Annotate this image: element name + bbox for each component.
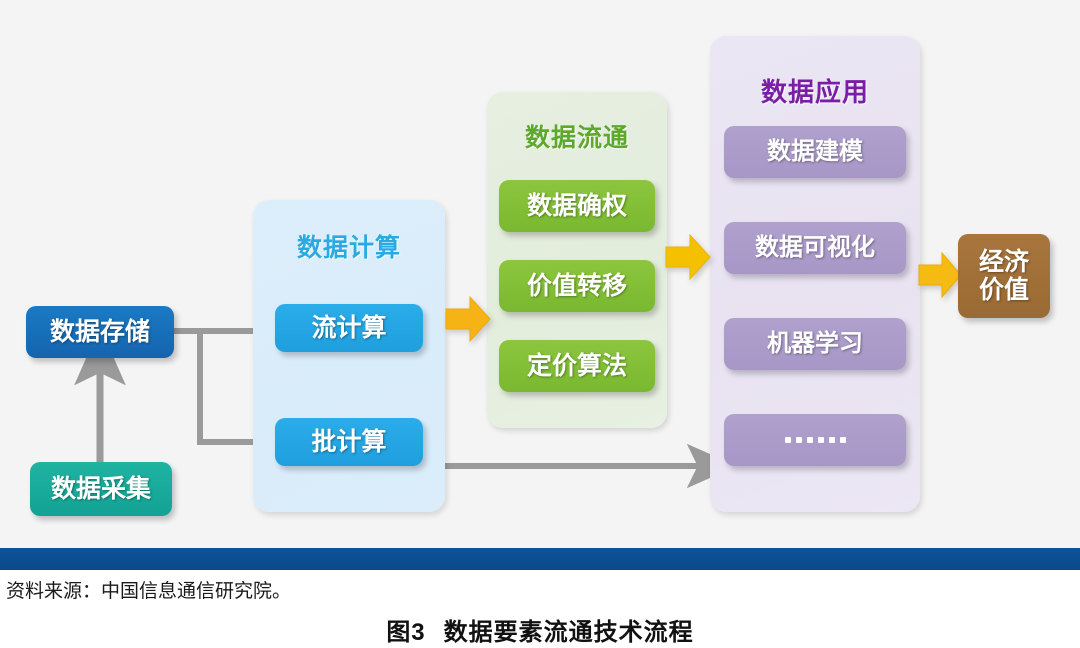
node-data-storage-label: 数据存储	[50, 318, 150, 346]
arrow-circulation-to-application-icon	[665, 232, 711, 282]
node-batch-computing-label: 批计算	[311, 428, 386, 456]
node-batch-computing[interactable]: 批计算	[275, 418, 423, 466]
node-pricing-algorithm-label: 定价算法	[527, 352, 627, 380]
figure-caption-title: 数据要素流通技术流程	[444, 619, 694, 646]
figure-root: 数据存储 数据采集 数据计算 流计算 批计算 数据流通 数据确权 价值转移 定价…	[0, 0, 1080, 648]
node-stream-computing[interactable]: 流计算	[275, 304, 423, 352]
node-economic-value-line1: 经济	[979, 248, 1029, 276]
node-data-rights-confirmation-label: 数据确权	[527, 192, 627, 220]
panel-data-circulation: 数据流通 数据确权 价值转移 定价算法	[487, 92, 667, 428]
node-data-collection-label: 数据采集	[51, 475, 151, 503]
node-more-applications[interactable]	[724, 414, 906, 466]
ellipsis-icon	[785, 437, 846, 443]
node-pricing-algorithm[interactable]: 定价算法	[499, 340, 655, 392]
node-value-transfer-label: 价值转移	[527, 272, 627, 300]
node-stream-computing-label: 流计算	[311, 314, 386, 342]
node-machine-learning[interactable]: 机器学习	[724, 318, 906, 370]
divider-bar	[0, 548, 1080, 570]
node-data-rights-confirmation[interactable]: 数据确权	[499, 180, 655, 232]
panel-data-computing: 数据计算 流计算 批计算	[253, 200, 445, 512]
node-economic-value-line2: 价值	[979, 276, 1029, 304]
node-value-transfer[interactable]: 价值转移	[499, 260, 655, 312]
panel-data-application: 数据应用 数据建模 数据可视化 机器学习	[710, 36, 920, 512]
panel-data-computing-title: 数据计算	[253, 228, 445, 264]
arrow-application-to-value-icon	[918, 250, 962, 300]
node-data-visualization-label: 数据可视化	[755, 235, 875, 262]
panel-data-application-title: 数据应用	[710, 72, 920, 109]
source-note: 资料来源：中国信息通信研究院。	[6, 576, 291, 603]
panel-data-circulation-title: 数据流通	[487, 118, 667, 154]
node-machine-learning-label: 机器学习	[767, 331, 863, 358]
node-data-visualization[interactable]: 数据可视化	[724, 222, 906, 274]
node-data-modeling[interactable]: 数据建模	[724, 126, 906, 178]
arrow-compute-to-circulation-icon	[445, 294, 491, 344]
node-data-collection[interactable]: 数据采集	[30, 462, 172, 516]
node-data-storage[interactable]: 数据存储	[26, 306, 174, 358]
figure-caption: 图3数据要素流通技术流程	[0, 612, 1080, 647]
figure-caption-number: 图3	[386, 619, 425, 646]
node-economic-value[interactable]: 经济 价值	[958, 234, 1050, 318]
node-data-modeling-label: 数据建模	[767, 139, 863, 166]
